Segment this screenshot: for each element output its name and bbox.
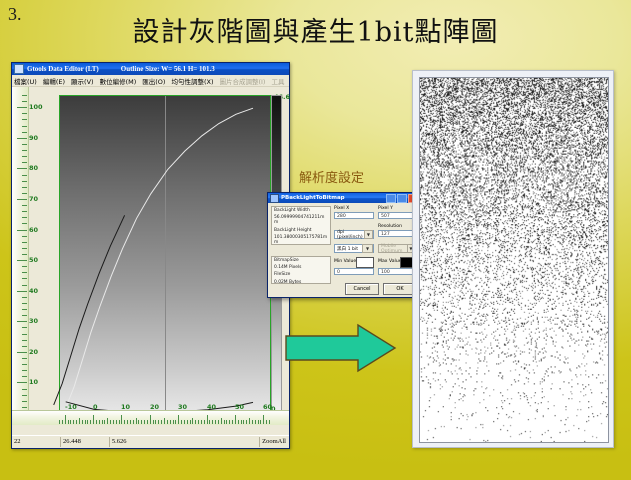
min-value-input[interactable]: 0	[334, 268, 374, 275]
chevron-down-icon[interactable]: ▼	[362, 244, 373, 253]
pixel-x-input[interactable]: 280	[334, 212, 374, 219]
unit-select-value: dpi (pixel/inch)	[337, 230, 364, 240]
resolution-settings-label: 解析度設定	[299, 167, 364, 186]
backlight-info-group: BackLight Width 56.09999904741211mm Back…	[271, 206, 331, 245]
y-tick-8: 80	[29, 164, 38, 172]
gtools-data-editor-window[interactable]: Gtools Data Editor (LT) Outline Size: W=…	[11, 62, 290, 449]
min-value-label: Min Value	[334, 259, 356, 264]
y-axis-tick-labels: 0102030405060708090100	[29, 87, 49, 417]
min-value-color-swatch[interactable]	[356, 257, 374, 268]
status-cell-0: 22	[12, 437, 61, 447]
bitmap-size-group: BitmapSize 0.14M Pixels FileSize 0.02M B…	[271, 256, 331, 284]
y-tick-9: 90	[29, 134, 38, 142]
vertical-ruler	[12, 87, 29, 417]
page-title: 設計灰階圖與產生1bit點陣圖	[0, 10, 631, 49]
editor-statusbar: 2226.4485.626ZoomAll	[12, 435, 289, 448]
maximize-icon[interactable]	[397, 194, 407, 203]
pbacklight-to-bitmap-dialog[interactable]: PBackLightToBitmap BackLight Width 56.09…	[267, 192, 421, 298]
menu-item-2[interactable]: 顯示(V)	[71, 76, 94, 86]
slide-canvas: 3. 設計灰階圖與產生1bit點陣圖 Gtools Data Editor (L…	[0, 0, 631, 480]
optimize-select: Mobile Optimum ▼	[378, 244, 416, 253]
editor-outline-size: Outline Size: W= 56.1 H= 101.3	[121, 65, 215, 73]
y-tick-6: 60	[29, 226, 38, 234]
file-size-value: 0.02M Bytes	[272, 279, 330, 286]
dialog-titlebar: PBackLightToBitmap	[268, 193, 420, 203]
dithered-bitmap-image	[419, 77, 609, 443]
resolution-input[interactable]: 127	[378, 230, 416, 237]
pixel-y-input[interactable]: 507	[378, 212, 416, 219]
max-value-label: Max Value	[378, 259, 402, 264]
status-cell-3[interactable]: ZoomAll	[260, 437, 289, 447]
backlight-width-value: 56.09999904741211mm	[272, 214, 330, 226]
y-tick-3: 30	[29, 317, 38, 325]
y-tick-4: 40	[29, 287, 38, 295]
optimize-select-value: Mobile Optimum	[381, 244, 407, 254]
menu-item-3[interactable]: 數位編修(M)	[100, 76, 137, 86]
dialog-icon	[270, 194, 279, 203]
menu-item-0[interactable]: 檔案(U)	[14, 76, 37, 86]
menu-item-5[interactable]: 均勻性調整(X)	[171, 76, 213, 86]
menu-item-7: 工具	[271, 76, 284, 86]
chevron-down-icon[interactable]: ▼	[364, 230, 373, 239]
menu-item-6: 圖片合成調整(I)	[219, 76, 265, 86]
graph-area[interactable]: 0102030405060708090100 46.6 0 -100102030…	[12, 87, 289, 447]
status-cell-2: 5.626	[110, 437, 260, 447]
menu-item-1[interactable]: 編輯(E)	[43, 76, 65, 86]
app-icon	[14, 64, 24, 74]
editor-app-title: Gtools Data Editor (LT)	[27, 65, 99, 73]
horizontal-ruler	[12, 410, 289, 425]
bitmap-size-value: 0.14M Pixels	[272, 264, 330, 271]
pixel-y-label: Pixel Y	[378, 206, 393, 211]
bitdepth-select[interactable]: 黑白 1 bit ▼	[334, 244, 374, 253]
y-tick-2: 20	[29, 348, 38, 356]
backlight-height-value: 101.38000305175781mm	[272, 234, 330, 246]
file-size-label: FileSize	[272, 271, 330, 278]
grayscale-gradient-plot[interactable]	[59, 95, 271, 415]
process-arrow-icon	[284, 322, 397, 374]
backlight-height-label: BackLight Height	[272, 227, 330, 234]
editor-titlebar: Gtools Data Editor (LT) Outline Size: W=…	[12, 63, 289, 75]
cancel-button[interactable]: Cancel	[345, 283, 379, 295]
editor-menubar[interactable]: 檔案(U)編輯(E)顯示(V)數位編修(M)匯出(O)均勻性調整(X)圖片合成調…	[12, 75, 289, 87]
y-tick-7: 70	[29, 195, 38, 203]
minimize-icon[interactable]	[386, 194, 396, 203]
bitdepth-select-value: 黑白 1 bit	[337, 246, 358, 252]
y-tick-10: 100	[29, 103, 43, 111]
bitmap-output-panel	[412, 70, 614, 448]
pixel-x-label: Pixel X	[334, 206, 349, 211]
dialog-body: BackLight Width 56.09999904741211mm Back…	[268, 203, 420, 297]
status-cell-1: 26.448	[61, 437, 110, 447]
bitmap-size-label: BitmapSize	[272, 257, 330, 264]
max-value-input[interactable]: 100	[378, 268, 416, 275]
backlight-width-label: BackLight Width	[272, 207, 330, 214]
curve-overlay	[60, 96, 270, 414]
y-tick-1: 10	[29, 378, 38, 386]
resolution-label: Resolution	[378, 224, 402, 229]
menu-item-4[interactable]: 匯出(O)	[142, 76, 165, 86]
y-tick-5: 50	[29, 256, 38, 264]
dialog-title-text: PBackLightToBitmap	[281, 195, 345, 201]
unit-select[interactable]: dpi (pixel/inch) ▼	[334, 230, 374, 239]
